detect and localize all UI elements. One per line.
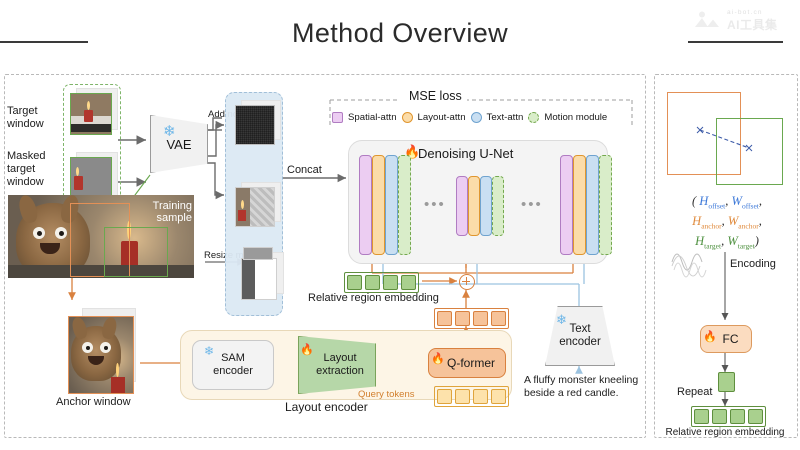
side-relative-region-embedding-tokens [691,406,766,427]
fc-label: FC [723,332,739,346]
encoded-region-token [718,372,735,392]
token [730,409,745,424]
repeat-label: Repeat [677,386,712,399]
fire-icon-fc: 🔥 [703,330,717,343]
encoding-label: Encoding [730,258,776,271]
token [748,409,763,424]
token [712,409,727,424]
token [694,409,709,424]
side-relative-region-embedding-label: Relative region embedding [654,427,796,439]
sine-wave-layer [0,0,800,450]
